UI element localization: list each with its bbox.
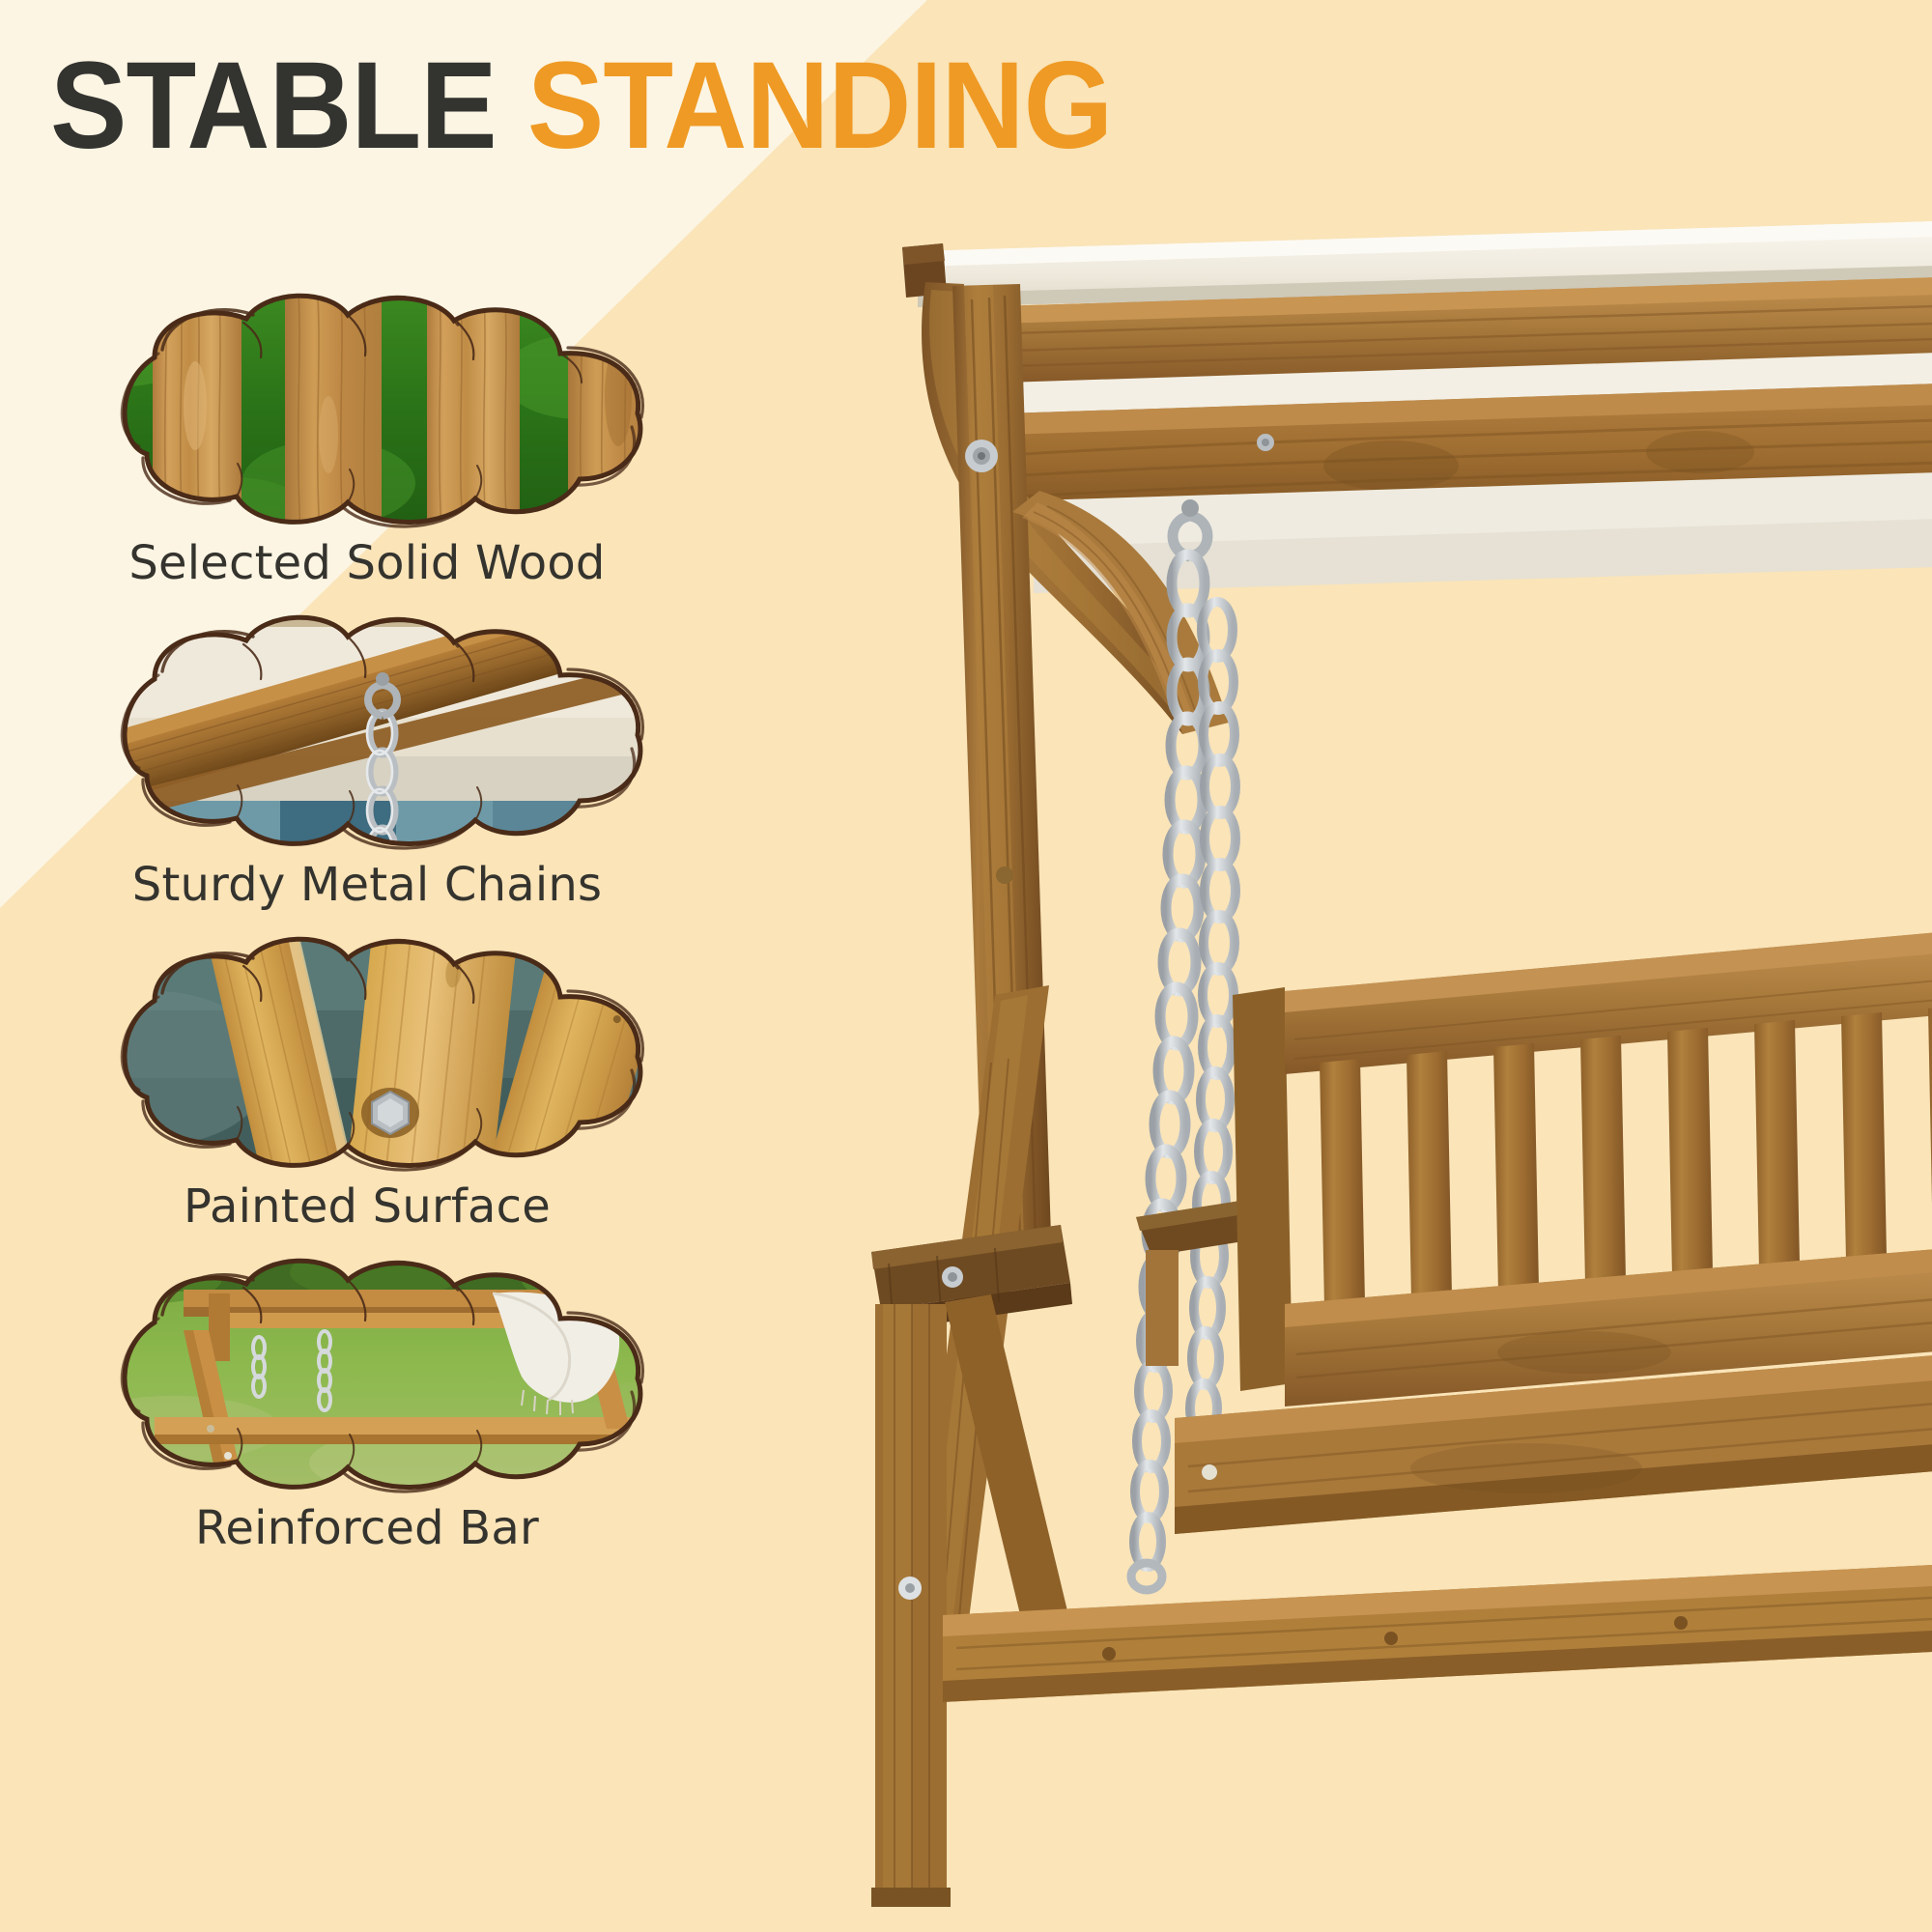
callout-painted-surface [39,933,734,1179]
feature-item-painted-surface: Painted Surface [0,933,734,1234]
wooden-porch-swing-with-canopy [850,193,1932,1932]
wood-slats-on-grass-photo [39,290,734,536]
bench-backrest-slats [1233,929,1932,1406]
feature-label: Selected Solid Wood [19,536,715,590]
callout-selected-solid-wood [39,290,734,536]
lower-vertical-leg [871,1304,951,1907]
feature-item-sturdy-metal-chains: Sturdy Metal Chains [0,611,734,912]
page-title-primary: STABLE [50,37,527,175]
feature-item-reinforced-bar: Reinforced Bar [0,1255,734,1555]
callout-sturdy-metal-chains [39,611,734,858]
painted-wood-bolt-photo [39,933,734,1179]
feature-label: Painted Surface [19,1179,715,1234]
reinforced-base-bar [943,1563,1932,1702]
feature-label: Sturdy Metal Chains [19,858,715,912]
infographic-canvas: STABLE STANDING [0,0,1932,1932]
feature-label: Reinforced Bar [19,1501,715,1555]
page-title-accent: STANDING [527,37,1112,175]
metal-chain-hook-photo [39,611,734,858]
swing-frame-reinforced-bar-photo [39,1255,734,1501]
page-title: STABLE STANDING [50,44,1112,168]
feature-list: Selected Solid Wood [0,290,734,1555]
feature-item-selected-solid-wood: Selected Solid Wood [0,290,734,590]
callout-reinforced-bar [39,1255,734,1501]
